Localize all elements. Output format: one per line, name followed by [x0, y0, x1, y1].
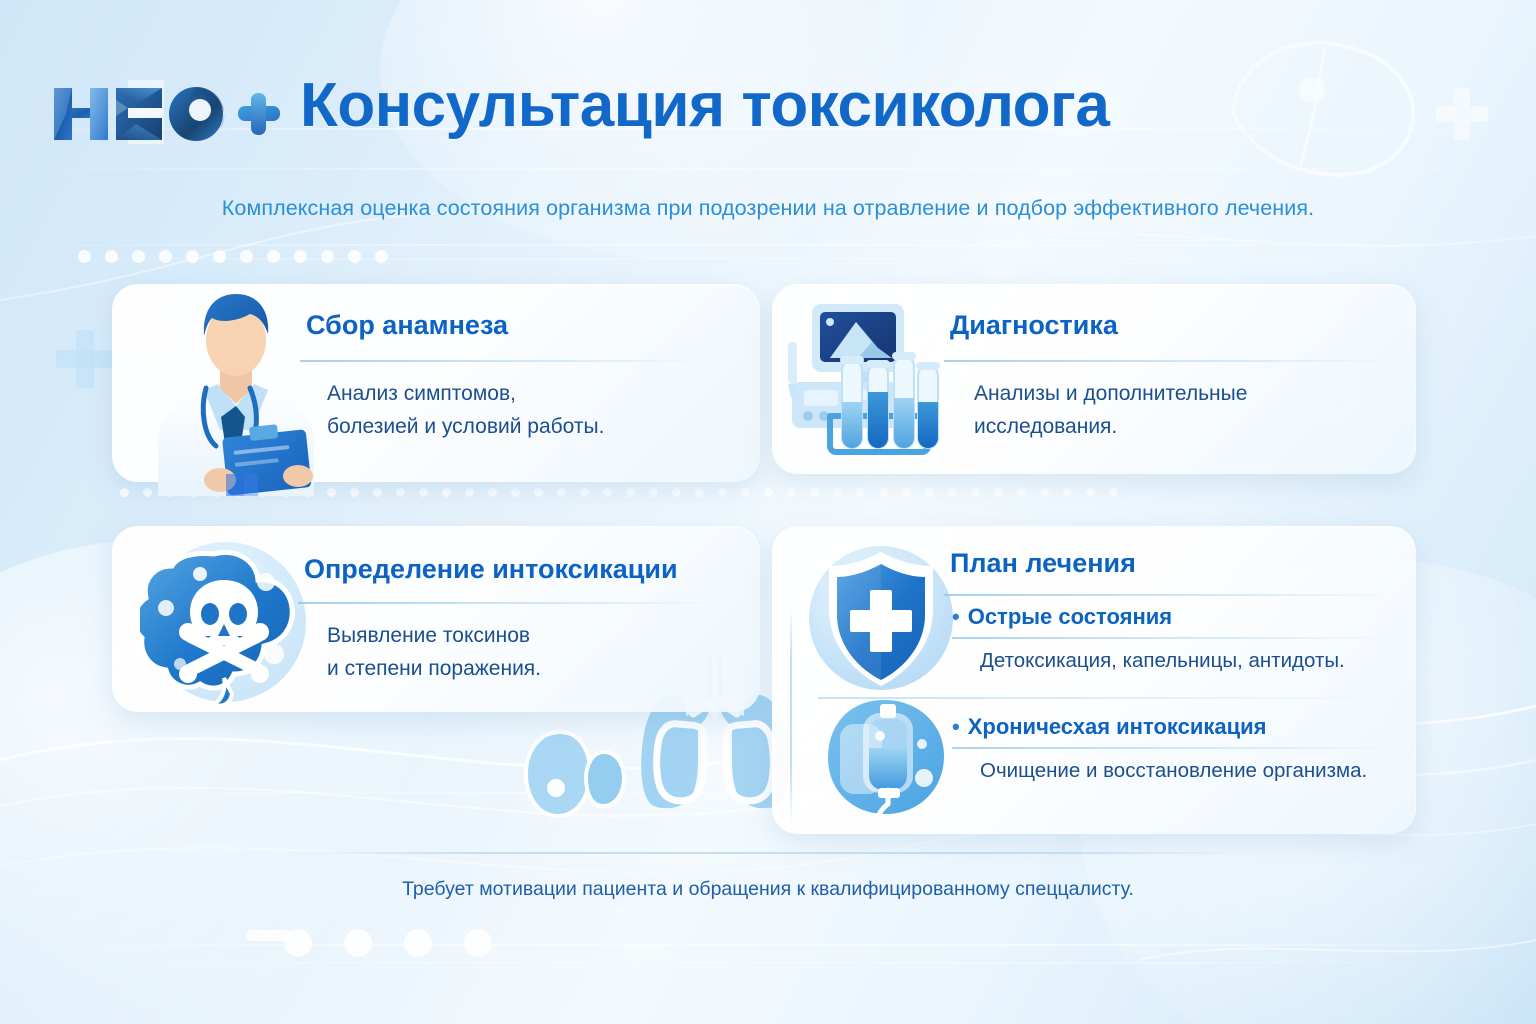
shield-cross-icon: [806, 542, 956, 694]
bullet-icon: •: [952, 714, 960, 739]
card-anamnesis-heading: Сбор анамнеза: [306, 310, 508, 341]
card-treatment-heading: План лечения: [950, 548, 1136, 579]
treatment-item-chronic[interactable]: •Хроничесхая интоксикация Очищение и вос…: [952, 714, 1398, 783]
card-intoxication-divider: [298, 602, 718, 604]
background-decorations: [0, 0, 1536, 1024]
dash-decoration: [246, 930, 292, 941]
bg-stripe: [0, 168, 1536, 170]
card-diagnostics-body-line1: Анализы и дополнительные: [974, 378, 1247, 411]
bg-wave-curves: [0, 0, 1536, 1024]
bg-stripe: [0, 244, 1536, 246]
card-diagnostics-body-line2: исследования.: [974, 411, 1247, 444]
treatment-item-acute-text: Детоксикация, капельницы, антидоты.: [980, 649, 1398, 673]
treatment-item-chronic-text: Очищение и восстановление организма.: [980, 759, 1398, 783]
card-anamnesis-body-line2: болезией и условий работы.: [327, 411, 604, 444]
footer-divider: [292, 852, 1244, 854]
card-diagnostics-heading: Диагностика: [950, 310, 1118, 341]
card-intoxication-heading: Определение интоксикации: [304, 554, 678, 585]
lab-equipment-icon: [786, 298, 956, 470]
dot-row-decoration: [284, 929, 492, 957]
kidney-icon: [520, 726, 646, 822]
medical-cross-icon: [56, 330, 114, 388]
treatment-item-chronic-title: •Хроничесхая интоксикация: [952, 714, 1398, 740]
page-title: Консультация токсиколога: [300, 70, 1109, 141]
bg-stripe: [0, 258, 1536, 260]
bg-stripe: [0, 962, 1536, 964]
neo-plus-logo[interactable]: [32, 70, 282, 150]
treatment-item-chronic-label: Хроничесхая интоксикация: [968, 714, 1267, 739]
iv-drip-icon: [822, 692, 954, 824]
treatment-item-acute-label: Острые состояния: [968, 604, 1172, 629]
treatment-item-acute[interactable]: •Острые состояния Детоксикация, капельни…: [952, 604, 1398, 673]
doctor-icon: [140, 288, 330, 496]
dot-row-decoration: [78, 250, 388, 263]
treatment-section-separator: [818, 697, 1398, 699]
page-subtitle: Комплексная оценка состояния организма п…: [0, 196, 1536, 221]
toxic-skull-icon: [140, 538, 312, 710]
card-anamnesis-body: Анализ симптомов, болезией и условий раб…: [327, 378, 604, 443]
card-anamnesis-divider: [300, 360, 700, 362]
card-treatment-divider: [944, 594, 1396, 596]
card-intoxication-body: Выявление токсинов и степени поражения.: [327, 620, 541, 685]
bullet-icon: •: [952, 604, 960, 629]
medical-cross-icon: [1436, 88, 1488, 140]
treatment-item-acute-title: •Острые состояния: [952, 604, 1398, 630]
card-intoxication-body-line2: и степени поражения.: [327, 653, 541, 686]
liver-icon: [1216, 14, 1426, 194]
card-anamnesis-body-line1: Анализ симптомов,: [327, 378, 604, 411]
card-diagnostics-divider: [944, 360, 1394, 362]
treatment-item-chronic-divider: [952, 747, 1398, 749]
poster-root: Консультация токсиколога Комплексная оце…: [0, 0, 1536, 1024]
bg-stripe: [0, 944, 1536, 946]
card-intoxication-body-line1: Выявление токсинов: [327, 620, 541, 653]
treatment-left-accent-bar: [790, 604, 792, 824]
treatment-item-acute-divider: [952, 637, 1398, 639]
card-diagnostics-body: Анализы и дополнительные исследования.: [974, 378, 1247, 443]
footer-note: Требует мотивации пациента и обращения к…: [0, 878, 1536, 901]
